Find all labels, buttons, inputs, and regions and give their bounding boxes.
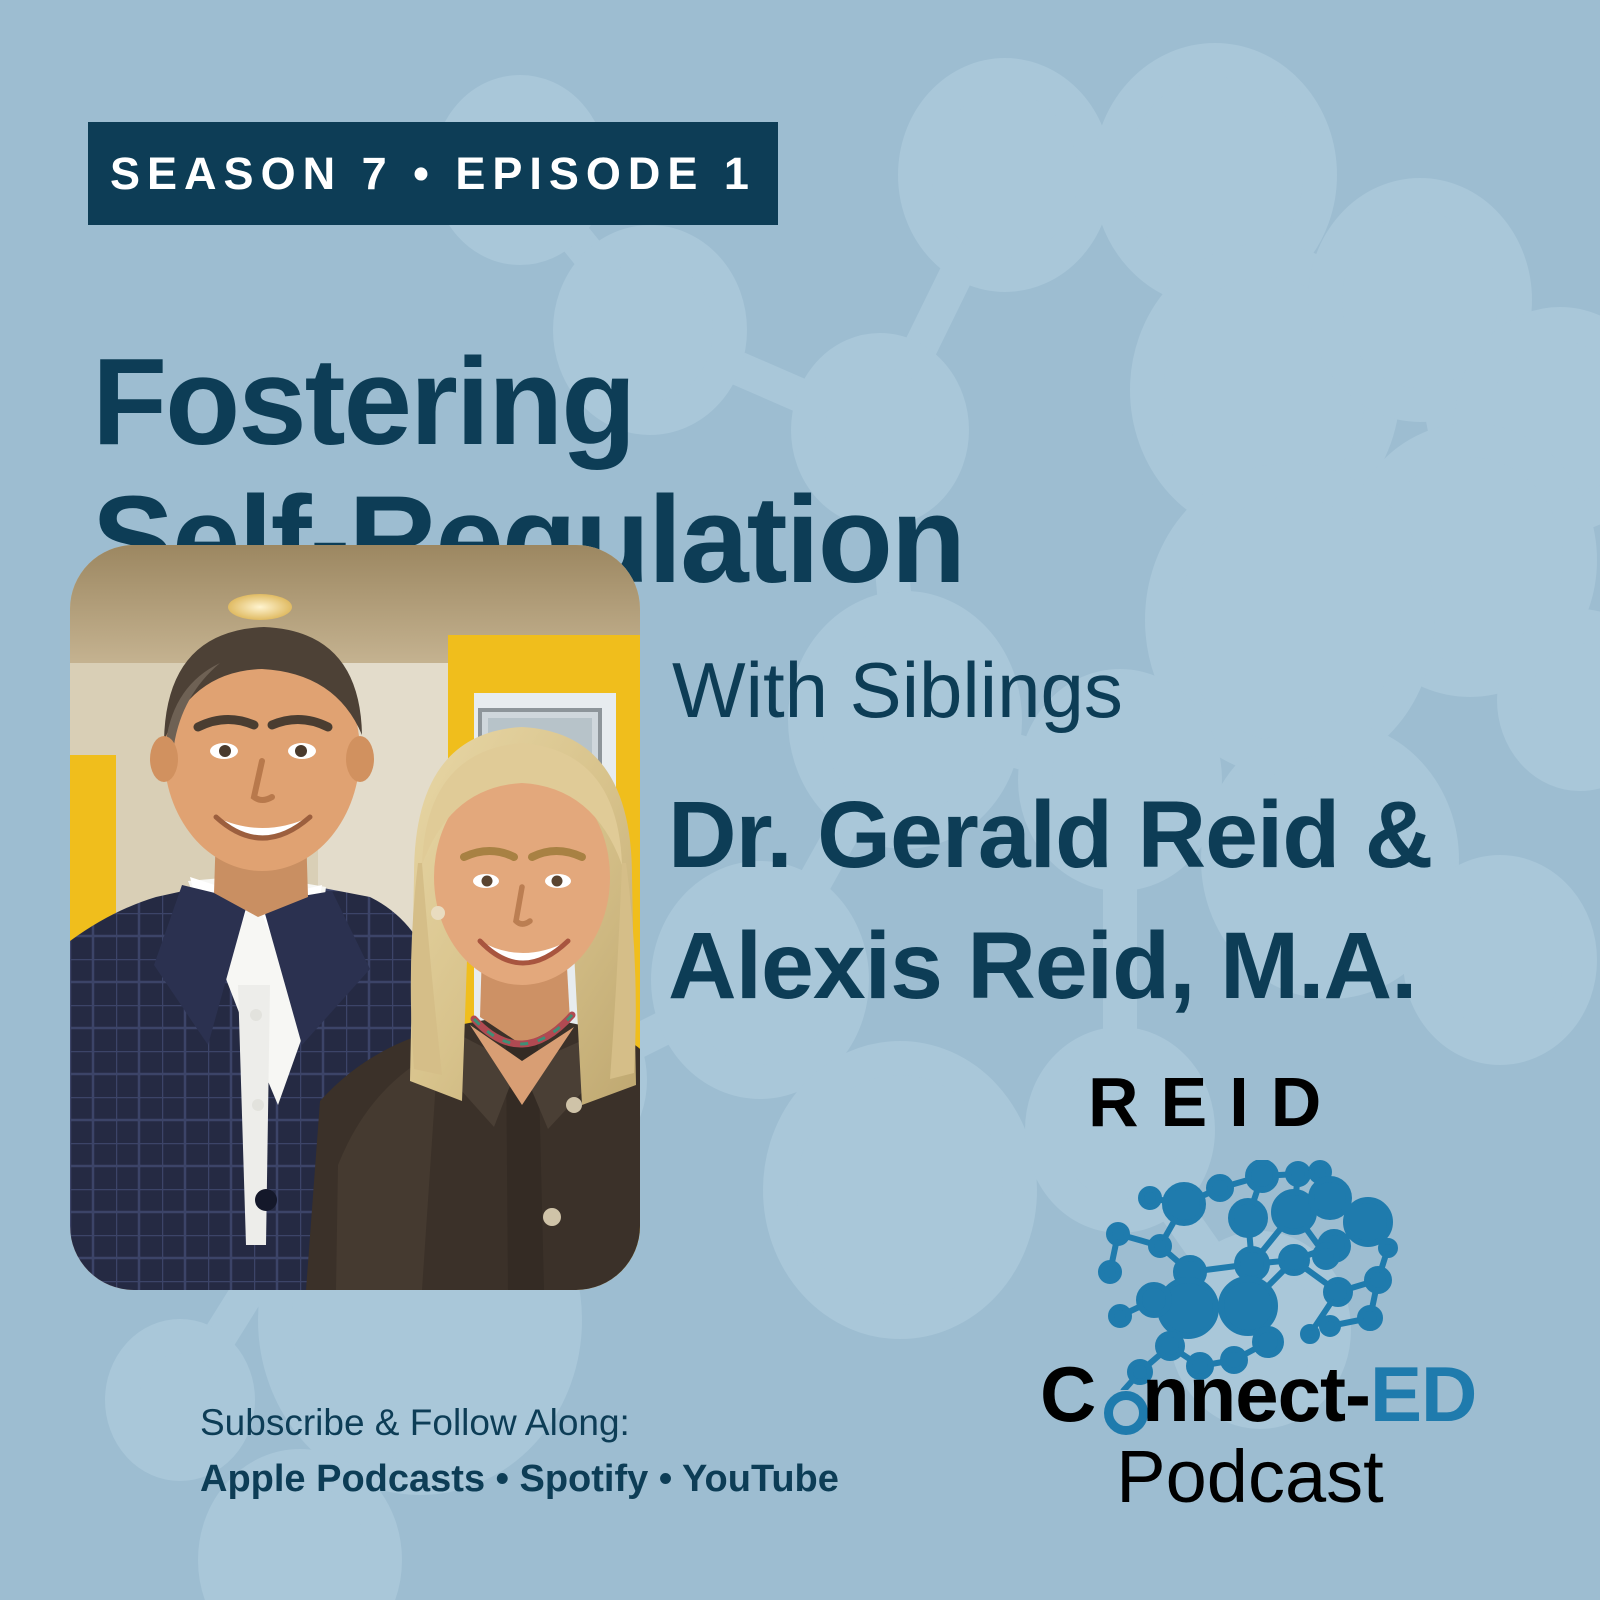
connect-prefix: C xyxy=(1040,1350,1095,1438)
connect-suffix: nnect- xyxy=(1142,1350,1370,1438)
guest-name-line-2: Alexis Reid, M.A. xyxy=(668,901,1432,1032)
connect-ed-podcast-wordmark: Connect-ED Podcast xyxy=(1040,1355,1460,1520)
guest-names: Dr. Gerald Reid & Alexis Reid, M.A. xyxy=(668,770,1432,1032)
season-episode-label: SEASON 7 • EPISODE 1 xyxy=(110,148,756,200)
season-episode-badge: SEASON 7 • EPISODE 1 xyxy=(88,122,778,225)
podcast-episode-cover: SEASON 7 • EPISODE 1 Fostering Self-Regu… xyxy=(0,0,1600,1600)
subscribe-label: Subscribe & Follow Along: xyxy=(200,1395,839,1451)
subscribe-block: Subscribe & Follow Along: Apple Podcasts… xyxy=(200,1395,839,1508)
podcast-label: Podcast xyxy=(1040,1433,1460,1520)
reid-wordmark: REID xyxy=(1088,1062,1343,1142)
episode-title-line-1: Fostering xyxy=(92,334,1222,472)
guest-photo-illustration xyxy=(70,545,640,1290)
connect-ed-line: Connect-ED xyxy=(1040,1355,1460,1433)
guest-name-line-1: Dr. Gerald Reid & xyxy=(668,770,1432,901)
guest-intro-label: With Siblings xyxy=(672,650,1123,732)
guest-photo xyxy=(70,545,640,1290)
subscribe-platforms: Apple Podcasts • Spotify • YouTube xyxy=(200,1451,839,1508)
connect-ed-suffix: ED xyxy=(1370,1350,1476,1438)
